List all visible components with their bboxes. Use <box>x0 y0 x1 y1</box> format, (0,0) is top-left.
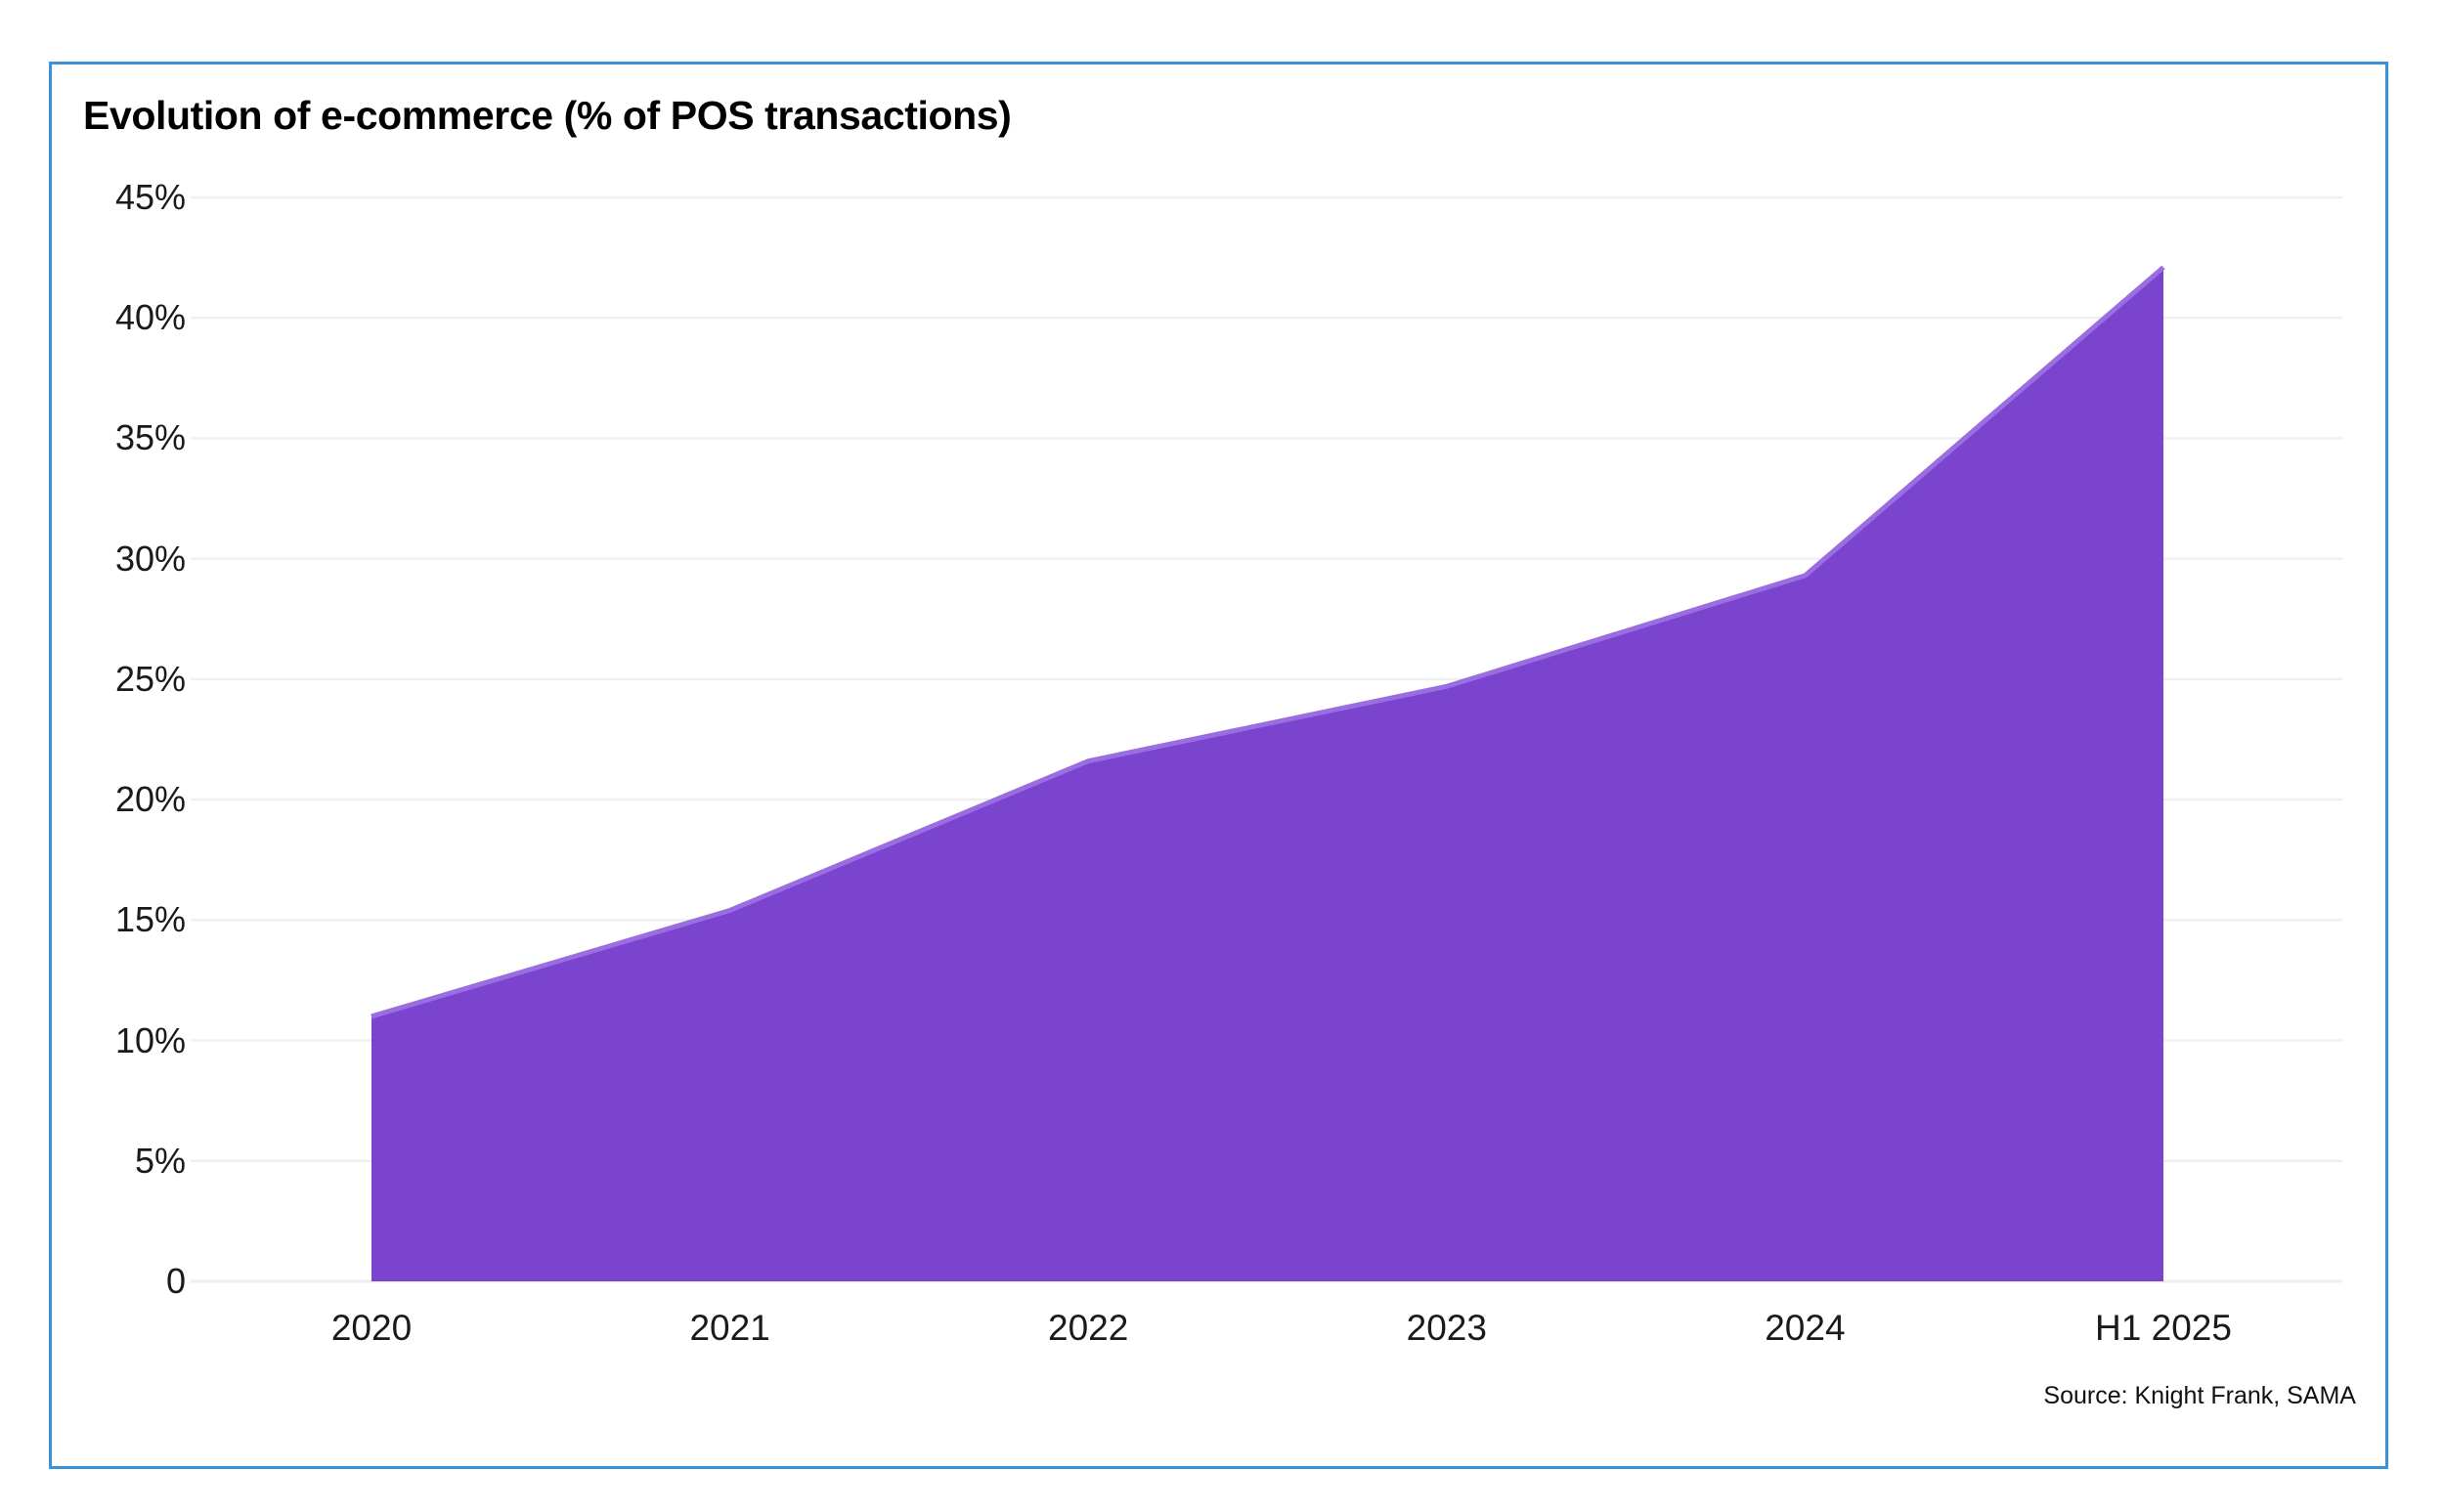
y-tick-label: 45% <box>39 177 186 218</box>
y-tick-label: 5% <box>39 1141 186 1182</box>
x-tick-label: 2020 <box>331 1308 412 1349</box>
y-tick-label: 10% <box>39 1020 186 1061</box>
y-tick-label: 20% <box>39 779 186 820</box>
y-tick-label: 0 <box>39 1261 186 1302</box>
y-tick-label: 15% <box>39 899 186 940</box>
y-axis: 05%10%15%20%25%30%35%40%45% <box>39 0 186 1512</box>
x-tick-label: 2021 <box>689 1308 769 1349</box>
y-tick-label: 30% <box>39 539 186 580</box>
x-tick-label: H1 2025 <box>2095 1308 2232 1349</box>
y-tick-label: 25% <box>39 659 186 700</box>
source-note: Source: Knight Frank, SAMA <box>2043 1382 2356 1410</box>
x-tick-label: 2024 <box>1765 1308 1845 1349</box>
x-tick-label: 2022 <box>1048 1308 1128 1349</box>
y-tick-label: 40% <box>39 297 186 338</box>
y-tick-label: 35% <box>39 417 186 458</box>
page-title: Evolution of e-commerce (% of POS transa… <box>83 93 1011 139</box>
x-tick-label: 2023 <box>1407 1308 1487 1349</box>
chart-page: Evolution of e-commerce (% of POS transa… <box>0 0 2444 1512</box>
chart-frame <box>49 62 2388 1469</box>
